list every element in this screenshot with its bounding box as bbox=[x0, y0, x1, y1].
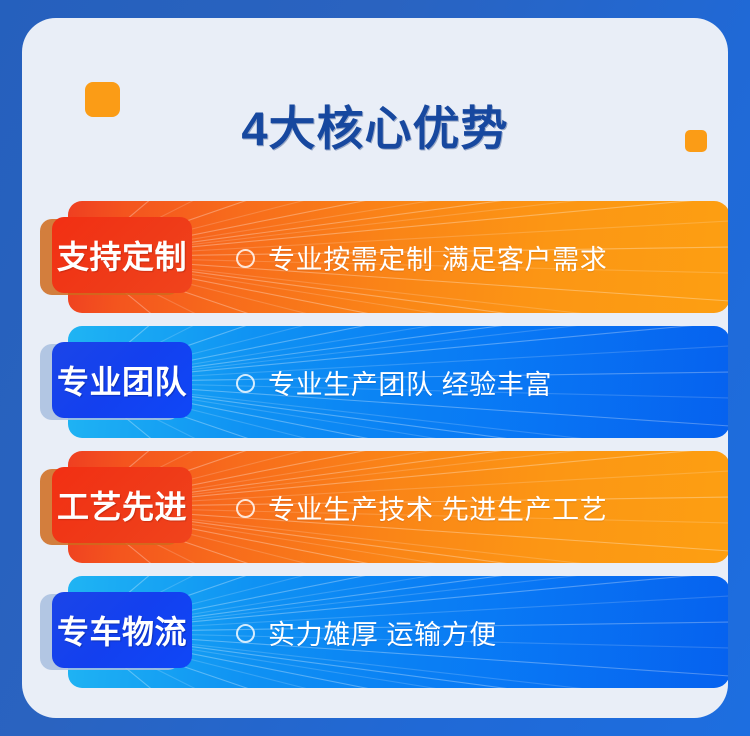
bar-sheen bbox=[492, 576, 728, 688]
circle-ring-icon bbox=[236, 374, 255, 393]
feature-description: 实力雄厚 运输方便 bbox=[268, 613, 497, 652]
feature-row[interactable]: 专车物流 实力雄厚 运输方便 bbox=[68, 576, 728, 688]
promo-banner: 4大核心优势 bbox=[0, 0, 750, 736]
feature-description-group: 专业生产技术 先进生产工艺 bbox=[236, 451, 607, 563]
feature-row[interactable]: 工艺先进 专业生产技术 先进生产工艺 bbox=[68, 451, 728, 563]
feature-badge: 专业团队 bbox=[52, 342, 192, 418]
feature-description-group: 专业按需定制 满足客户需求 bbox=[236, 201, 607, 313]
feature-row[interactable]: 专业团队 专业生产团队 经验丰富 bbox=[68, 326, 728, 438]
circle-ring-icon bbox=[236, 249, 255, 268]
feature-description: 专业生产技术 先进生产工艺 bbox=[268, 488, 607, 527]
feature-badge-group: 支持定制 bbox=[40, 217, 188, 297]
circle-ring-icon bbox=[236, 499, 255, 518]
feature-badge: 工艺先进 bbox=[52, 467, 192, 543]
feature-description: 专业按需定制 满足客户需求 bbox=[268, 238, 607, 277]
page-title: 4大核心优势 bbox=[22, 90, 728, 159]
feature-description: 专业生产团队 经验丰富 bbox=[268, 363, 552, 402]
feature-badge: 专车物流 bbox=[52, 592, 192, 668]
circle-ring-icon bbox=[236, 624, 255, 643]
feature-description-group: 专业生产团队 经验丰富 bbox=[236, 326, 552, 438]
content-card: 4大核心优势 bbox=[22, 18, 728, 718]
feature-row[interactable]: 支持定制 专业按需定制 满足客户需求 bbox=[68, 201, 728, 313]
feature-badge-group: 专车物流 bbox=[40, 592, 188, 672]
feature-badge: 支持定制 bbox=[52, 217, 192, 293]
feature-description-group: 实力雄厚 运输方便 bbox=[236, 576, 497, 688]
feature-badge-group: 专业团队 bbox=[40, 342, 188, 422]
feature-badge-group: 工艺先进 bbox=[40, 467, 188, 547]
